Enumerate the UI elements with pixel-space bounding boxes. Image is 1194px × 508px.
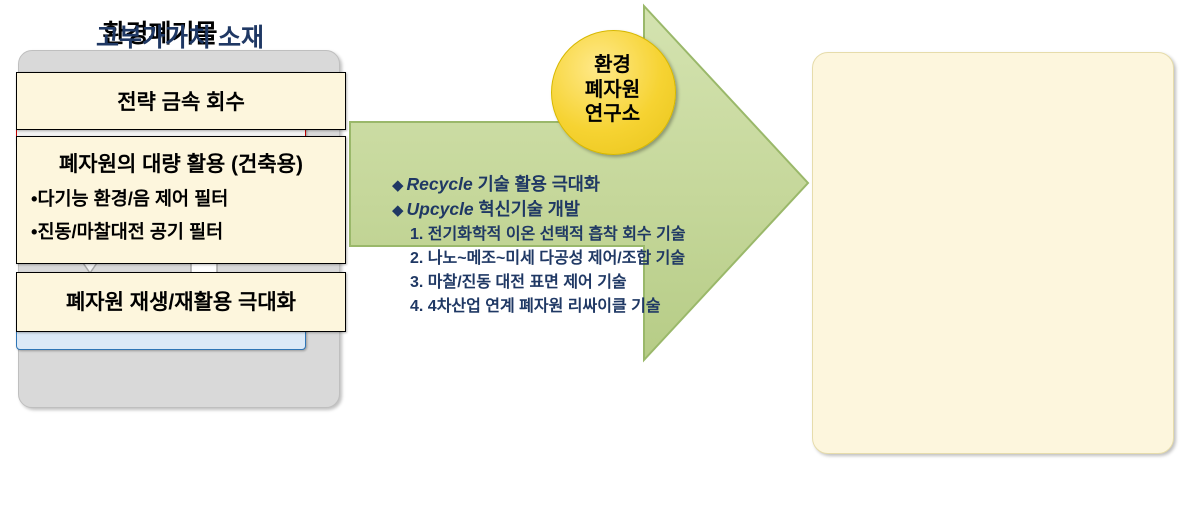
outcome-box-1-heading: 전략 금속 회수 xyxy=(17,86,345,116)
outcome-box-2-item-1: •다기능 환경/음 제어 필터 xyxy=(31,185,345,211)
center-strategy-list: ◆Recycle 기술 활용 극대화 ◆Upcycle 혁신기술 개발 1. 전… xyxy=(392,172,752,319)
outcome-box-2-heading: 폐자원의 대량 활용 (건축용) xyxy=(17,148,345,178)
center-bullet-2-rest: 혁신기술 개발 xyxy=(474,199,580,219)
center-bullet-2-emphasis: Upcycle xyxy=(407,199,474,219)
right-panel-title: 고부가가치 소재 xyxy=(0,18,360,54)
center-numbered-1: 1. 전기화학적 이온 선택적 흡착 회수 기술 xyxy=(410,223,752,247)
outcome-box-3-heading: 폐자원 재생/재활용 극대화 xyxy=(17,286,345,316)
center-bullet-1-rest: 기술 활용 극대화 xyxy=(473,174,600,194)
center-numbered-4: 4. 4차산업 연계 폐자원 리싸이클 기술 xyxy=(410,295,752,319)
diamond-bullet-icon-2: ◆ xyxy=(392,202,404,219)
outcome-box-3: 폐자원 재생/재활용 극대화 xyxy=(16,272,346,332)
center-bullet-1: ◆Recycle 기술 활용 극대화 xyxy=(392,172,752,197)
center-bullet-1-emphasis: Recycle xyxy=(407,174,473,194)
center-numbered-2: 2. 나노~메조~미세 다공성 제어/조합 기술 xyxy=(410,247,752,271)
diagram-canvas: 환경폐기물 무기 폐기물 폐배터리, e-Waste, 폐촉매 등 유기 폐기물… xyxy=(0,0,1194,508)
center-bullet-2: ◆Upcycle 혁신기술 개발 xyxy=(392,197,752,222)
outcome-box-2: 폐자원의 대량 활용 (건축용) •다기능 환경/음 제어 필터 •진동/마찰대… xyxy=(16,136,346,264)
diamond-bullet-icon: ◆ xyxy=(392,177,404,194)
center-numbered-3: 3. 마찰/진동 대전 표면 제어 기술 xyxy=(410,271,752,295)
outcome-box-1: 전략 금속 회수 xyxy=(16,72,346,130)
high-value-material-panel xyxy=(812,52,1174,454)
institute-badge-label: 환경폐자원연구소 xyxy=(551,53,674,127)
outcome-box-2-item-2: •진동/마찰대전 공기 필터 xyxy=(31,218,345,244)
